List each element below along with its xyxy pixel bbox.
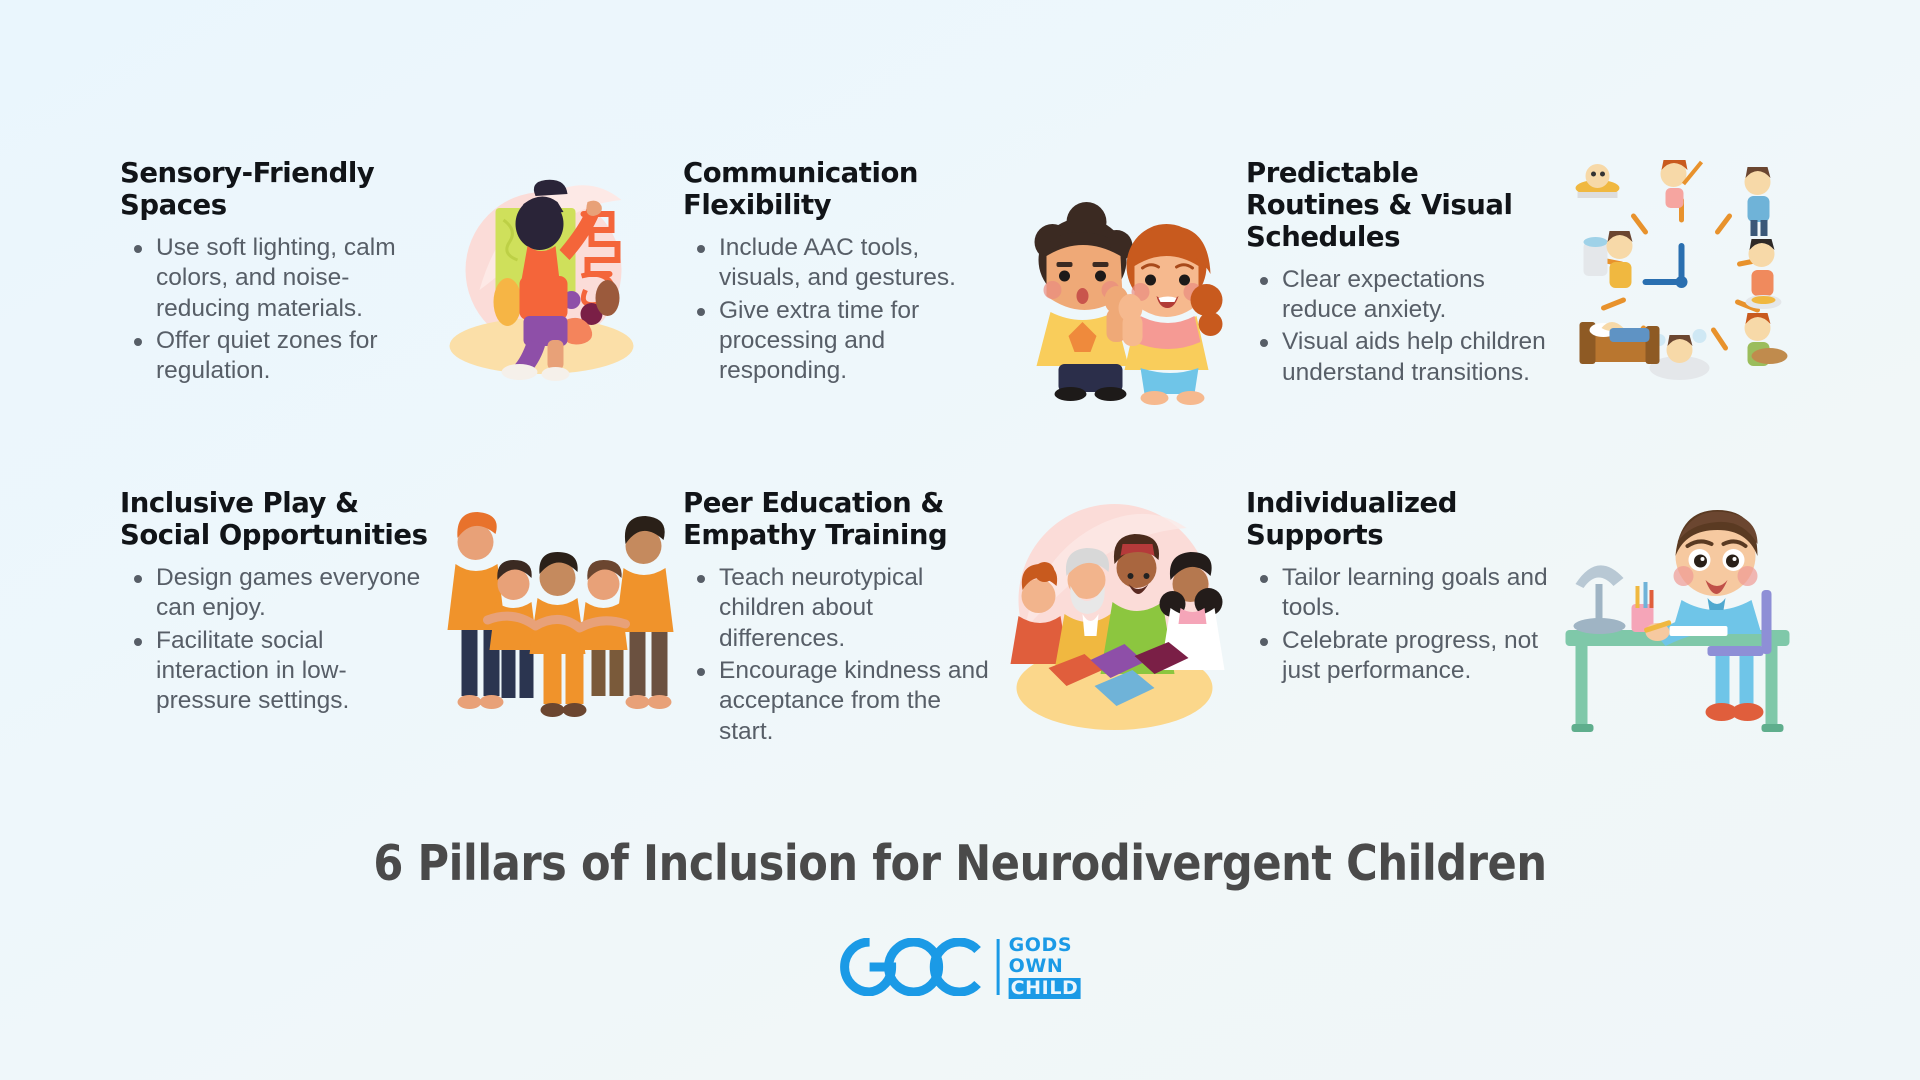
pillar-title: Predictable Routines & Visual Schedules: [1246, 158, 1556, 254]
pillar-text-block: Sensory-Friendly Spaces Use soft lightin…: [120, 150, 430, 389]
pillar-text-block: Communication Flexibility Include AAC to…: [683, 150, 993, 389]
logo-wordmark: GODS OWN CHILD: [1009, 935, 1081, 999]
pillar-title: Communication Flexibility: [683, 158, 993, 222]
daily-routine-clock-illustration: [1556, 150, 1809, 410]
pillar-bullet: Encourage kindness and acceptance from t…: [719, 656, 993, 747]
pillar-title: Sensory-Friendly Spaces: [120, 158, 430, 222]
pillar-bullet: Clear expectations reduce anxiety.: [1282, 265, 1556, 326]
goc-logo: GODS OWN CHILD: [840, 935, 1081, 999]
pillar-card-sensory-friendly-spaces: Sensory-Friendly Spaces Use soft lightin…: [120, 150, 683, 410]
goc-monogram-icon: [840, 938, 988, 996]
pillar-card-communication-flexibility: Communication Flexibility Include AAC to…: [683, 150, 1246, 410]
pillar-text-block: Inclusive Play & Social Opportunities De…: [120, 480, 430, 719]
pillar-bullet-list: Tailor learning goals and tools. Celebra…: [1246, 563, 1556, 687]
two-children-whispering-illustration: [993, 150, 1246, 410]
pillar-bullet: Use soft lighting, calm colors, and nois…: [156, 233, 430, 324]
children-holding-hands-circle-illustration: [430, 480, 683, 740]
pillar-text-block: Predictable Routines & Visual Schedules …: [1246, 150, 1556, 390]
boy-studying-at-desk-illustration: [1556, 480, 1809, 740]
pillar-row-bottom: Inclusive Play & Social Opportunities De…: [120, 480, 1810, 749]
pillar-card-predictable-routines-visual-schedules: Predictable Routines & Visual Schedules …: [1246, 150, 1809, 410]
pillar-bullet: Offer quiet zones for regulation.: [156, 326, 430, 387]
pillar-row-top: Sensory-Friendly Spaces Use soft lightin…: [120, 150, 1810, 410]
page-title: 6 Pillars of Inclusion for Neurodivergen…: [115, 835, 1805, 892]
pillar-bullet-list: Teach neurotypical children about differ…: [683, 563, 993, 747]
logo-line-2: OWN: [1009, 956, 1081, 977]
pillar-bullet: Facilitate social interaction in low-pre…: [156, 626, 430, 717]
pillar-bullet: Tailor learning goals and tools.: [1282, 563, 1556, 624]
logo-divider: [997, 939, 1000, 995]
pillar-card-peer-education-empathy-training: Peer Education & Empathy Training Teach …: [683, 480, 1246, 749]
pillar-title: Peer Education & Empathy Training: [683, 488, 993, 552]
pillar-bullet: Teach neurotypical children about differ…: [719, 563, 993, 654]
pillar-bullet: Include AAC tools, visuals, and gestures…: [719, 233, 993, 294]
pillar-bullet-list: Clear expectations reduce anxiety. Visua…: [1246, 265, 1556, 389]
pillar-bullet-list: Include AAC tools, visuals, and gestures…: [683, 233, 993, 387]
pillar-bullet: Design games everyone can enjoy.: [156, 563, 430, 624]
pillar-text-block: Peer Education & Empathy Training Teach …: [683, 480, 993, 749]
pillar-bullet: Visual aids help children understand tra…: [1282, 327, 1556, 388]
group-reading-together-illustration: [993, 480, 1246, 740]
pillar-card-individualized-supports: Individualized Supports Tailor learning …: [1246, 480, 1809, 749]
pillar-title: Inclusive Play & Social Opportunities: [120, 488, 430, 552]
pillar-bullet: Give extra time for processing and respo…: [719, 296, 993, 387]
infographic-canvas: Sensory-Friendly Spaces Use soft lightin…: [0, 0, 1920, 1080]
pillar-card-inclusive-play-social-opportunities: Inclusive Play & Social Opportunities De…: [120, 480, 683, 749]
child-at-sensory-wall-illustration: [430, 150, 683, 410]
pillar-title: Individualized Supports: [1246, 488, 1556, 552]
pillar-text-block: Individualized Supports Tailor learning …: [1246, 480, 1556, 688]
pillar-bullet-list: Use soft lighting, calm colors, and nois…: [120, 233, 430, 387]
logo-line-1: GODS: [1009, 935, 1081, 956]
pillar-bullet: Celebrate progress, not just performance…: [1282, 626, 1556, 687]
logo-line-3: CHILD: [1009, 978, 1081, 999]
pillar-bullet-list: Design games everyone can enjoy. Facilit…: [120, 563, 430, 717]
